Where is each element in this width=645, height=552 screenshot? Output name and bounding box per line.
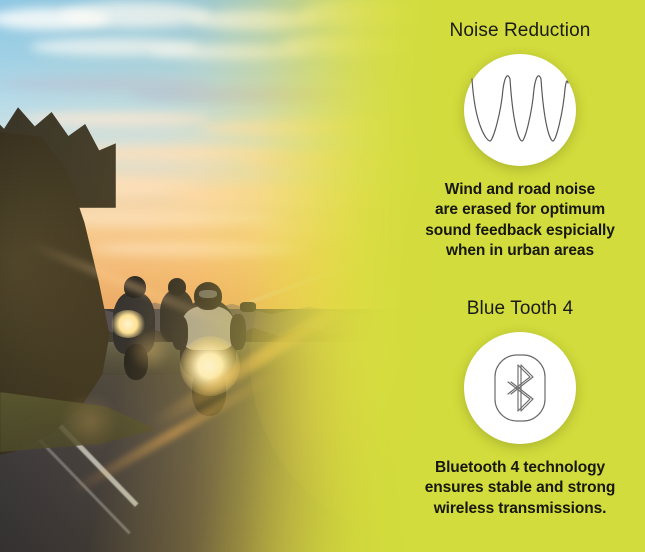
- feature-description-bluetooth: Bluetooth 4 technology ensures stable an…: [395, 458, 645, 519]
- rider-helmet: [124, 276, 146, 298]
- cloud: [60, 2, 210, 28]
- bluetooth-icon: [492, 352, 548, 424]
- feature-bluetooth: Blue Tooth 4 Bluetooth 4 technology ensu…: [395, 298, 645, 519]
- feature-noise-reduction: Noise Reduction Wind and road noise are …: [395, 20, 645, 262]
- promo-graphic: Noise Reduction Wind and road noise are …: [0, 0, 645, 552]
- headlight: [180, 336, 240, 396]
- feature-title-noise-reduction: Noise Reduction: [395, 20, 645, 43]
- desc-line: Wind and road noise: [395, 180, 645, 200]
- feature-title-bluetooth: Blue Tooth 4: [395, 298, 645, 321]
- icon-badge-bluetooth: [464, 332, 576, 444]
- desc-line: Bluetooth 4 technology: [395, 458, 645, 478]
- motorcycle-wheel: [124, 344, 148, 380]
- sound-wave-icon: [470, 69, 570, 151]
- cloud: [90, 242, 310, 256]
- rider-helmet: [168, 278, 186, 296]
- desc-line: sound feedback espicially: [395, 221, 645, 241]
- bluetooth-icon-frame: [495, 355, 545, 421]
- photo-canvas: [0, 0, 430, 552]
- desc-line: are erased for optimum: [395, 200, 645, 220]
- motorcycle-mirror: [240, 302, 256, 312]
- rider-arm: [172, 316, 188, 350]
- headlight: [110, 310, 146, 338]
- cloud: [170, 186, 410, 206]
- feature-description-noise-reduction: Wind and road noise are erased for optim…: [395, 180, 645, 262]
- desc-line: wireless transmissions.: [395, 499, 645, 519]
- desc-line: ensures stable and strong: [395, 478, 645, 498]
- features-panel: Noise Reduction Wind and road noise are …: [395, 0, 645, 552]
- hero-photo: [0, 0, 430, 552]
- icon-badge-noise-reduction: [464, 54, 576, 166]
- desc-line: when in urban areas: [395, 241, 645, 261]
- helmet-visor: [199, 290, 217, 298]
- cloud: [200, 120, 410, 136]
- cloud: [130, 86, 350, 104]
- rider-arm: [230, 314, 246, 350]
